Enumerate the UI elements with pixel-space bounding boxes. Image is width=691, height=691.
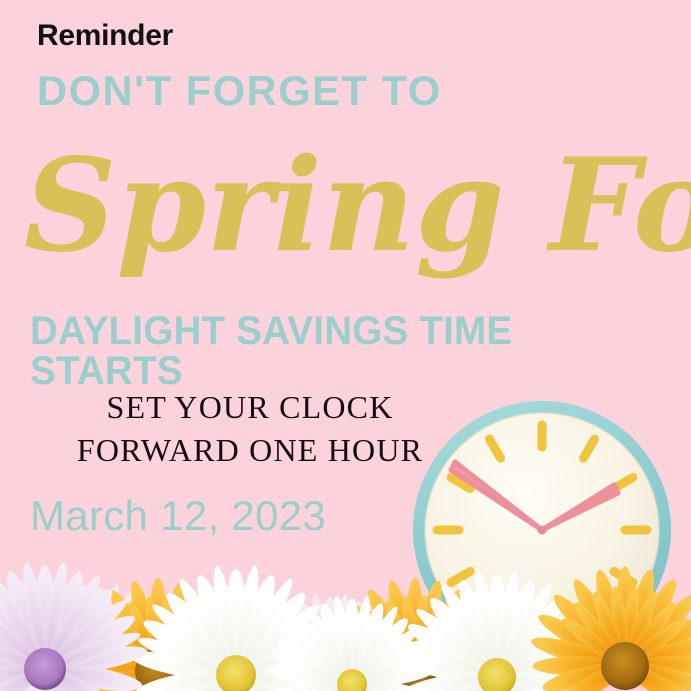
flower-center — [216, 655, 256, 691]
subheading: DAYLIGHT SAVINGS TIME STARTS — [30, 311, 668, 391]
clock-center-pin — [538, 526, 547, 535]
eyebrow-label: Reminder — [37, 20, 173, 52]
poster-canvas: Reminder DON'T FORGET TO Spring Forward … — [0, 0, 691, 691]
wall-clock — [411, 399, 673, 661]
flower-center — [315, 667, 345, 691]
flower-center — [83, 662, 117, 691]
flower-lavender — [8, 583, 192, 691]
flower-center — [506, 671, 534, 691]
flower-white — [130, 564, 343, 691]
kicker-heading: DON'T FORGET TO — [37, 70, 442, 112]
flower-center — [337, 669, 367, 691]
flower-orange — [152, 598, 313, 691]
flower-orange — [68, 578, 248, 691]
script-heading: Spring Forward — [24, 132, 624, 292]
flower-lavender — [0, 561, 149, 691]
flower-center — [478, 658, 516, 691]
event-date: March 12, 2023 — [30, 495, 326, 537]
flower-center — [213, 662, 251, 691]
script-heading-wrap: Spring Forward — [0, 132, 691, 292]
flower-lavender — [244, 593, 415, 691]
flower-center — [135, 648, 181, 691]
script-heading-text: Spring Forward — [24, 131, 691, 281]
flower-center — [24, 648, 66, 690]
